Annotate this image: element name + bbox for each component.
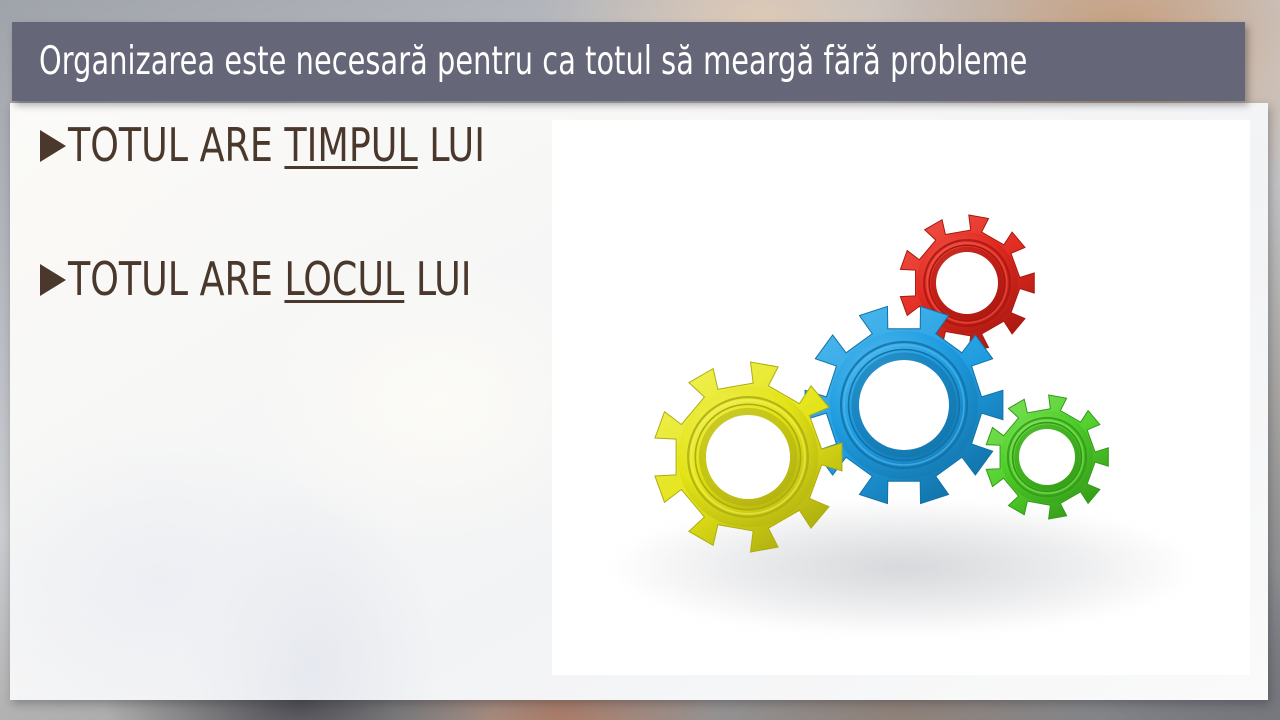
gears-illustration	[552, 120, 1250, 675]
bullet-1-after: LUI	[418, 118, 485, 172]
triangle-bullet-icon	[40, 264, 66, 296]
bullet-1-before: TOTUL ARE	[68, 118, 284, 172]
bullet-2-after: LUI	[404, 252, 471, 306]
slide-image-panel	[552, 120, 1250, 675]
slide-title-bar: Organizarea este necesară pentru ca totu…	[12, 22, 1245, 101]
gear-yellow	[646, 355, 850, 559]
bullet-1-emphasis: TIMPUL	[284, 118, 417, 172]
bullet-item-1: TOTUL ARE TIMPUL LUI	[40, 121, 540, 169]
bullet-2-emphasis: LOCUL	[284, 252, 404, 306]
slide-canvas: Organizarea este necesară pentru ca totu…	[0, 0, 1280, 720]
bullet-list: TOTUL ARE TIMPUL LUI TOTUL ARE LOCUL LUI	[40, 121, 540, 304]
bullet-item-2-text: TOTUL ARE LOCUL LUI	[68, 255, 472, 303]
gear-green	[978, 388, 1116, 526]
triangle-bullet-icon	[40, 130, 66, 162]
slide-title: Organizarea este necesară pentru ca totu…	[12, 42, 1027, 81]
bullet-item-2: TOTUL ARE LOCUL LUI	[40, 255, 540, 303]
bullet-2-before: TOTUL ARE	[68, 252, 284, 306]
bullet-item-1-text: TOTUL ARE TIMPUL LUI	[68, 121, 485, 169]
